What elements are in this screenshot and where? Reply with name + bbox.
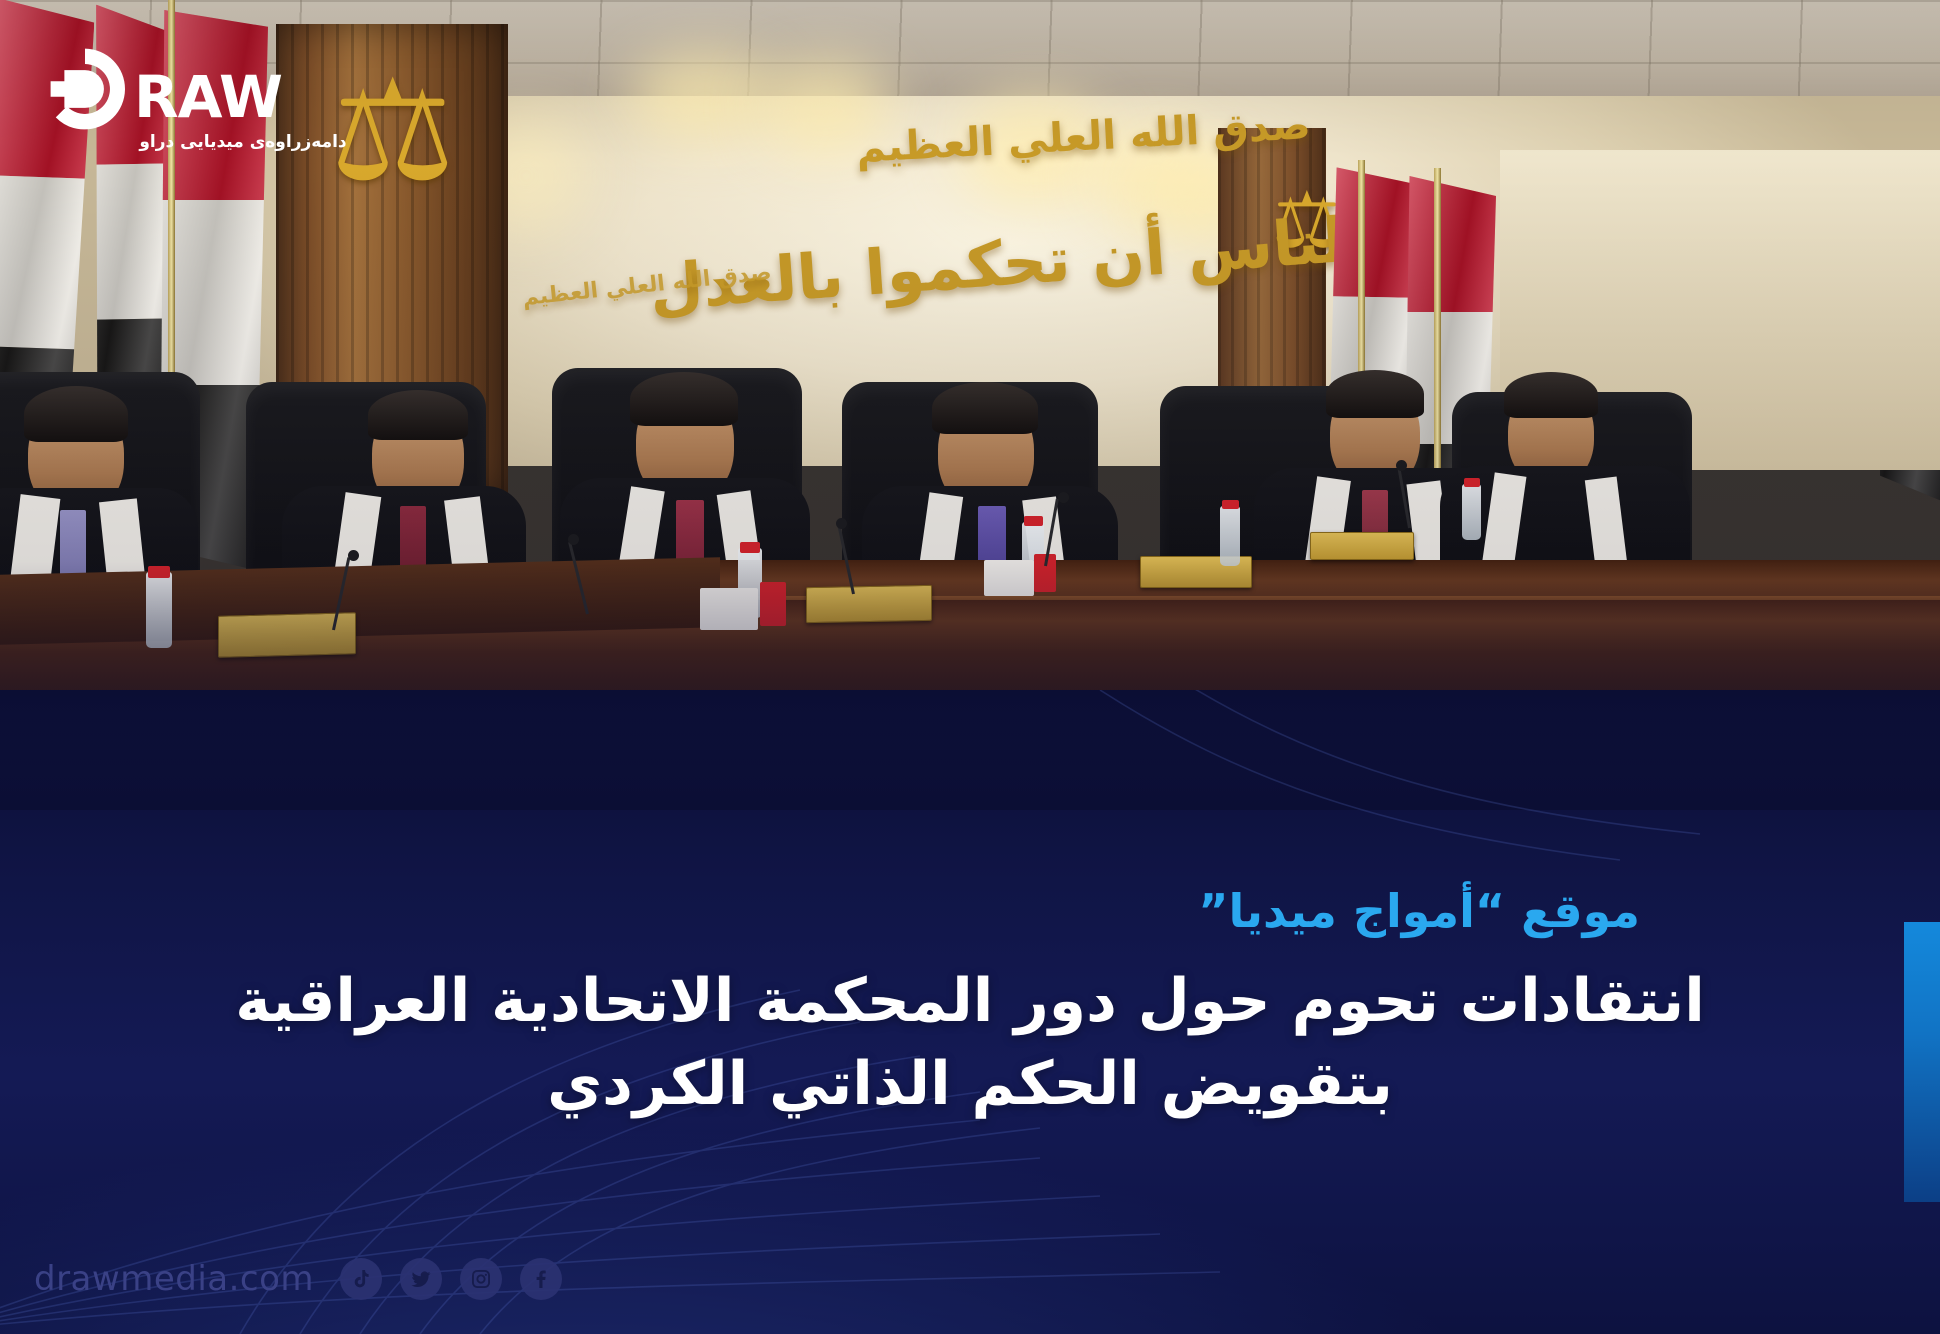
twitter-icon[interactable] [400,1258,442,1300]
draw-media-logo[interactable]: RAW دامەزراوەی میدیایی دراو [42,40,352,138]
d-circle-mark-icon [42,46,128,132]
headline-line-2: بتقويض الحكم الذاتي الكردي [190,1043,1750,1126]
logo-wordmark: RAW [134,68,282,126]
tiktok-icon[interactable] [340,1258,382,1300]
headline-line-1: انتقادات تحوم حول دور المحكمة الاتحادية … [190,960,1750,1043]
instagram-icon[interactable] [460,1258,502,1300]
news-card: ⚖ ⚖ صدق الله العلي العظيم وإذا حكمتم بين… [0,0,1940,1334]
facebook-icon[interactable] [520,1258,562,1300]
page-title: انتقادات تحوم حول دور المحكمة الاتحادية … [190,960,1750,1126]
source-label: موقع “أمواج ميديا” [1198,884,1640,938]
logo-subtitle: دامەزراوەی میدیایی دراو [134,132,352,152]
footer: drawmedia.com [34,1250,562,1308]
site-url[interactable]: drawmedia.com [34,1259,314,1299]
accent-bar [1904,922,1940,1202]
